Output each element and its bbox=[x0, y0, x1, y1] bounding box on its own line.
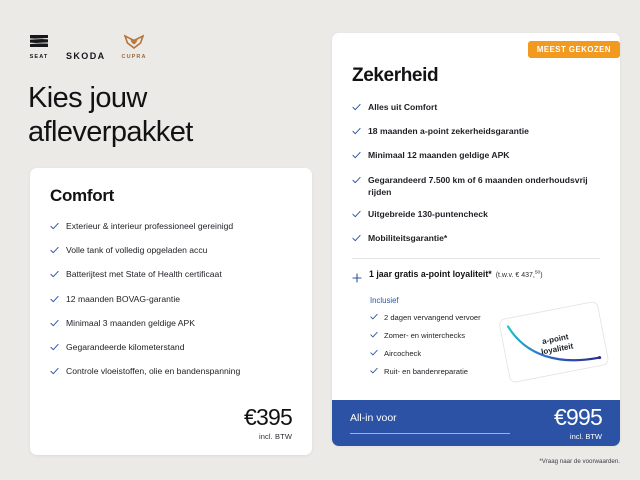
list-item-label: Controle vloeistoffen, olie en bandenspa… bbox=[66, 365, 281, 377]
comfort-package-card[interactable]: Comfort Exterieur & interieur profession… bbox=[30, 168, 312, 455]
check-icon bbox=[352, 127, 361, 139]
list-item-label: Aircocheck bbox=[384, 349, 421, 358]
disclaimer-text: *Vraag naar de voorwaarden. bbox=[539, 458, 620, 465]
check-icon bbox=[352, 176, 361, 188]
list-item-label: Minimaal 12 maanden geldige APK bbox=[368, 149, 590, 161]
left-column: SEAT SKODA CUPRA Kies jouw afleverpakket… bbox=[0, 0, 322, 480]
zekerheid-title: Zekerheid bbox=[352, 65, 600, 87]
comfort-price-note: incl. BTW bbox=[244, 432, 292, 441]
skoda-wordmark: SKODA bbox=[66, 52, 106, 61]
list-item: Volle tank of volledig opgeladen accu bbox=[50, 244, 292, 258]
list-item-label: Volle tank of volledig opgeladen accu bbox=[66, 244, 281, 256]
loyalty-value: (t.w.v. € 437,50) bbox=[496, 272, 543, 279]
list-item: Exterieur & interieur professioneel gere… bbox=[50, 220, 292, 234]
loyalty-value-prefix: (t.w.v. € 437, bbox=[496, 272, 535, 279]
seat-wordmark: SEAT bbox=[30, 55, 49, 61]
offer-comparison-page: SEAT SKODA CUPRA Kies jouw afleverpakket… bbox=[0, 0, 640, 480]
list-item-label: 2 dagen vervangend vervoer bbox=[384, 313, 481, 322]
check-icon bbox=[50, 295, 59, 307]
list-item: Controle vloeistoffen, olie en bandenspa… bbox=[50, 365, 292, 379]
plus-icon bbox=[352, 270, 362, 288]
list-item: Minimaal 12 maanden geldige APK bbox=[352, 149, 600, 163]
list-item-label: Ruit- en bandenreparatie bbox=[384, 367, 468, 376]
list-item-label: Uitgebreide 130-puntencheck bbox=[368, 208, 590, 220]
loyalty-title-wrap: 1 jaar gratis a-point loyaliteit*(t.w.v.… bbox=[369, 269, 543, 279]
list-item: Batterijtest met State of Health certifi… bbox=[50, 268, 292, 282]
skoda-brand: SKODA bbox=[66, 52, 106, 61]
loyalty-value-suffix: ) bbox=[540, 272, 542, 279]
zekerheid-body: MEEST GEKOZEN Zekerheid Alles uit Comfor… bbox=[332, 33, 620, 377]
check-icon bbox=[370, 331, 378, 341]
check-icon bbox=[352, 103, 361, 115]
divider bbox=[352, 258, 600, 259]
check-icon bbox=[50, 319, 59, 331]
check-icon bbox=[370, 313, 378, 323]
allin-label: All-in voor bbox=[350, 412, 397, 424]
list-item: Uitgebreide 130-puntencheck bbox=[352, 208, 600, 222]
list-item-label: Mobiliteitsgarantie* bbox=[368, 232, 590, 244]
brand-logos: SEAT SKODA CUPRA bbox=[28, 34, 147, 61]
list-item: Alles uit Comfort bbox=[352, 101, 600, 115]
allin-price-note: incl. BTW bbox=[554, 432, 602, 441]
list-item: Minimaal 3 maanden geldige APK bbox=[50, 317, 292, 331]
check-icon bbox=[370, 367, 378, 377]
comfort-feature-list: Exterieur & interieur professioneel gere… bbox=[50, 220, 292, 379]
comfort-price: €395 bbox=[244, 406, 292, 429]
check-icon bbox=[50, 246, 59, 258]
list-item: Gegarandeerde kilometerstand bbox=[50, 341, 292, 355]
list-item-label: 12 maanden BOVAG-garantie bbox=[66, 293, 281, 305]
loyalty-title: 1 jaar gratis a-point loyaliteit* bbox=[369, 269, 492, 279]
check-icon bbox=[370, 349, 378, 359]
list-item: Gegarandeerd 7.500 km of 6 maanden onder… bbox=[352, 174, 600, 198]
allin-price: €995 bbox=[554, 406, 602, 429]
list-item: Mobiliteitsgarantie* bbox=[352, 232, 600, 246]
check-icon bbox=[50, 270, 59, 282]
loyalty-section-header: 1 jaar gratis a-point loyaliteit*(t.w.v.… bbox=[352, 269, 600, 288]
status-badge: MEEST GEKOZEN bbox=[528, 41, 620, 58]
check-icon bbox=[352, 234, 361, 246]
allin-price-block: €995 incl. BTW bbox=[554, 406, 602, 441]
list-item-label: 18 maanden a-point zekerheidsgarantie bbox=[368, 125, 590, 137]
allin-price-bar: All-in voor €995 incl. BTW bbox=[332, 400, 620, 446]
list-item-label: Minimaal 3 maanden geldige APK bbox=[66, 317, 281, 329]
seat-logo-icon bbox=[28, 34, 50, 53]
page-title: Kies jouw afleverpakket bbox=[28, 82, 288, 150]
check-icon bbox=[50, 367, 59, 379]
list-item-label: Zomer- en winterchecks bbox=[384, 331, 465, 340]
check-icon bbox=[352, 210, 361, 222]
price-rule bbox=[350, 433, 510, 434]
list-item: 18 maanden a-point zekerheidsgarantie bbox=[352, 125, 600, 139]
zekerheid-package-card[interactable]: MEEST GEKOZEN Zekerheid Alles uit Comfor… bbox=[332, 33, 620, 445]
cupra-brand: CUPRA bbox=[122, 34, 147, 61]
zekerheid-feature-list: Alles uit Comfort 18 maanden a-point zek… bbox=[352, 101, 600, 246]
seat-brand: SEAT bbox=[28, 34, 50, 61]
comfort-price-block: €395 incl. BTW bbox=[244, 406, 292, 441]
check-icon bbox=[352, 151, 361, 163]
list-item: 12 maanden BOVAG-garantie bbox=[50, 293, 292, 307]
list-item-label: Alles uit Comfort bbox=[368, 101, 590, 113]
check-icon bbox=[50, 222, 59, 234]
check-icon bbox=[50, 343, 59, 355]
cupra-wordmark: CUPRA bbox=[122, 55, 147, 61]
list-item-label: Exterieur & interieur professioneel gere… bbox=[66, 220, 281, 232]
list-item-label: Gegarandeerd 7.500 km of 6 maanden onder… bbox=[368, 174, 590, 198]
inclusief-section: Inclusief 2 dagen vervangend vervoer Zom… bbox=[370, 296, 600, 377]
cupra-logo-icon bbox=[124, 34, 144, 53]
list-item-label: Batterijtest met State of Health certifi… bbox=[66, 268, 281, 280]
comfort-title: Comfort bbox=[50, 186, 292, 206]
list-item-label: Gegarandeerde kilometerstand bbox=[66, 341, 281, 353]
